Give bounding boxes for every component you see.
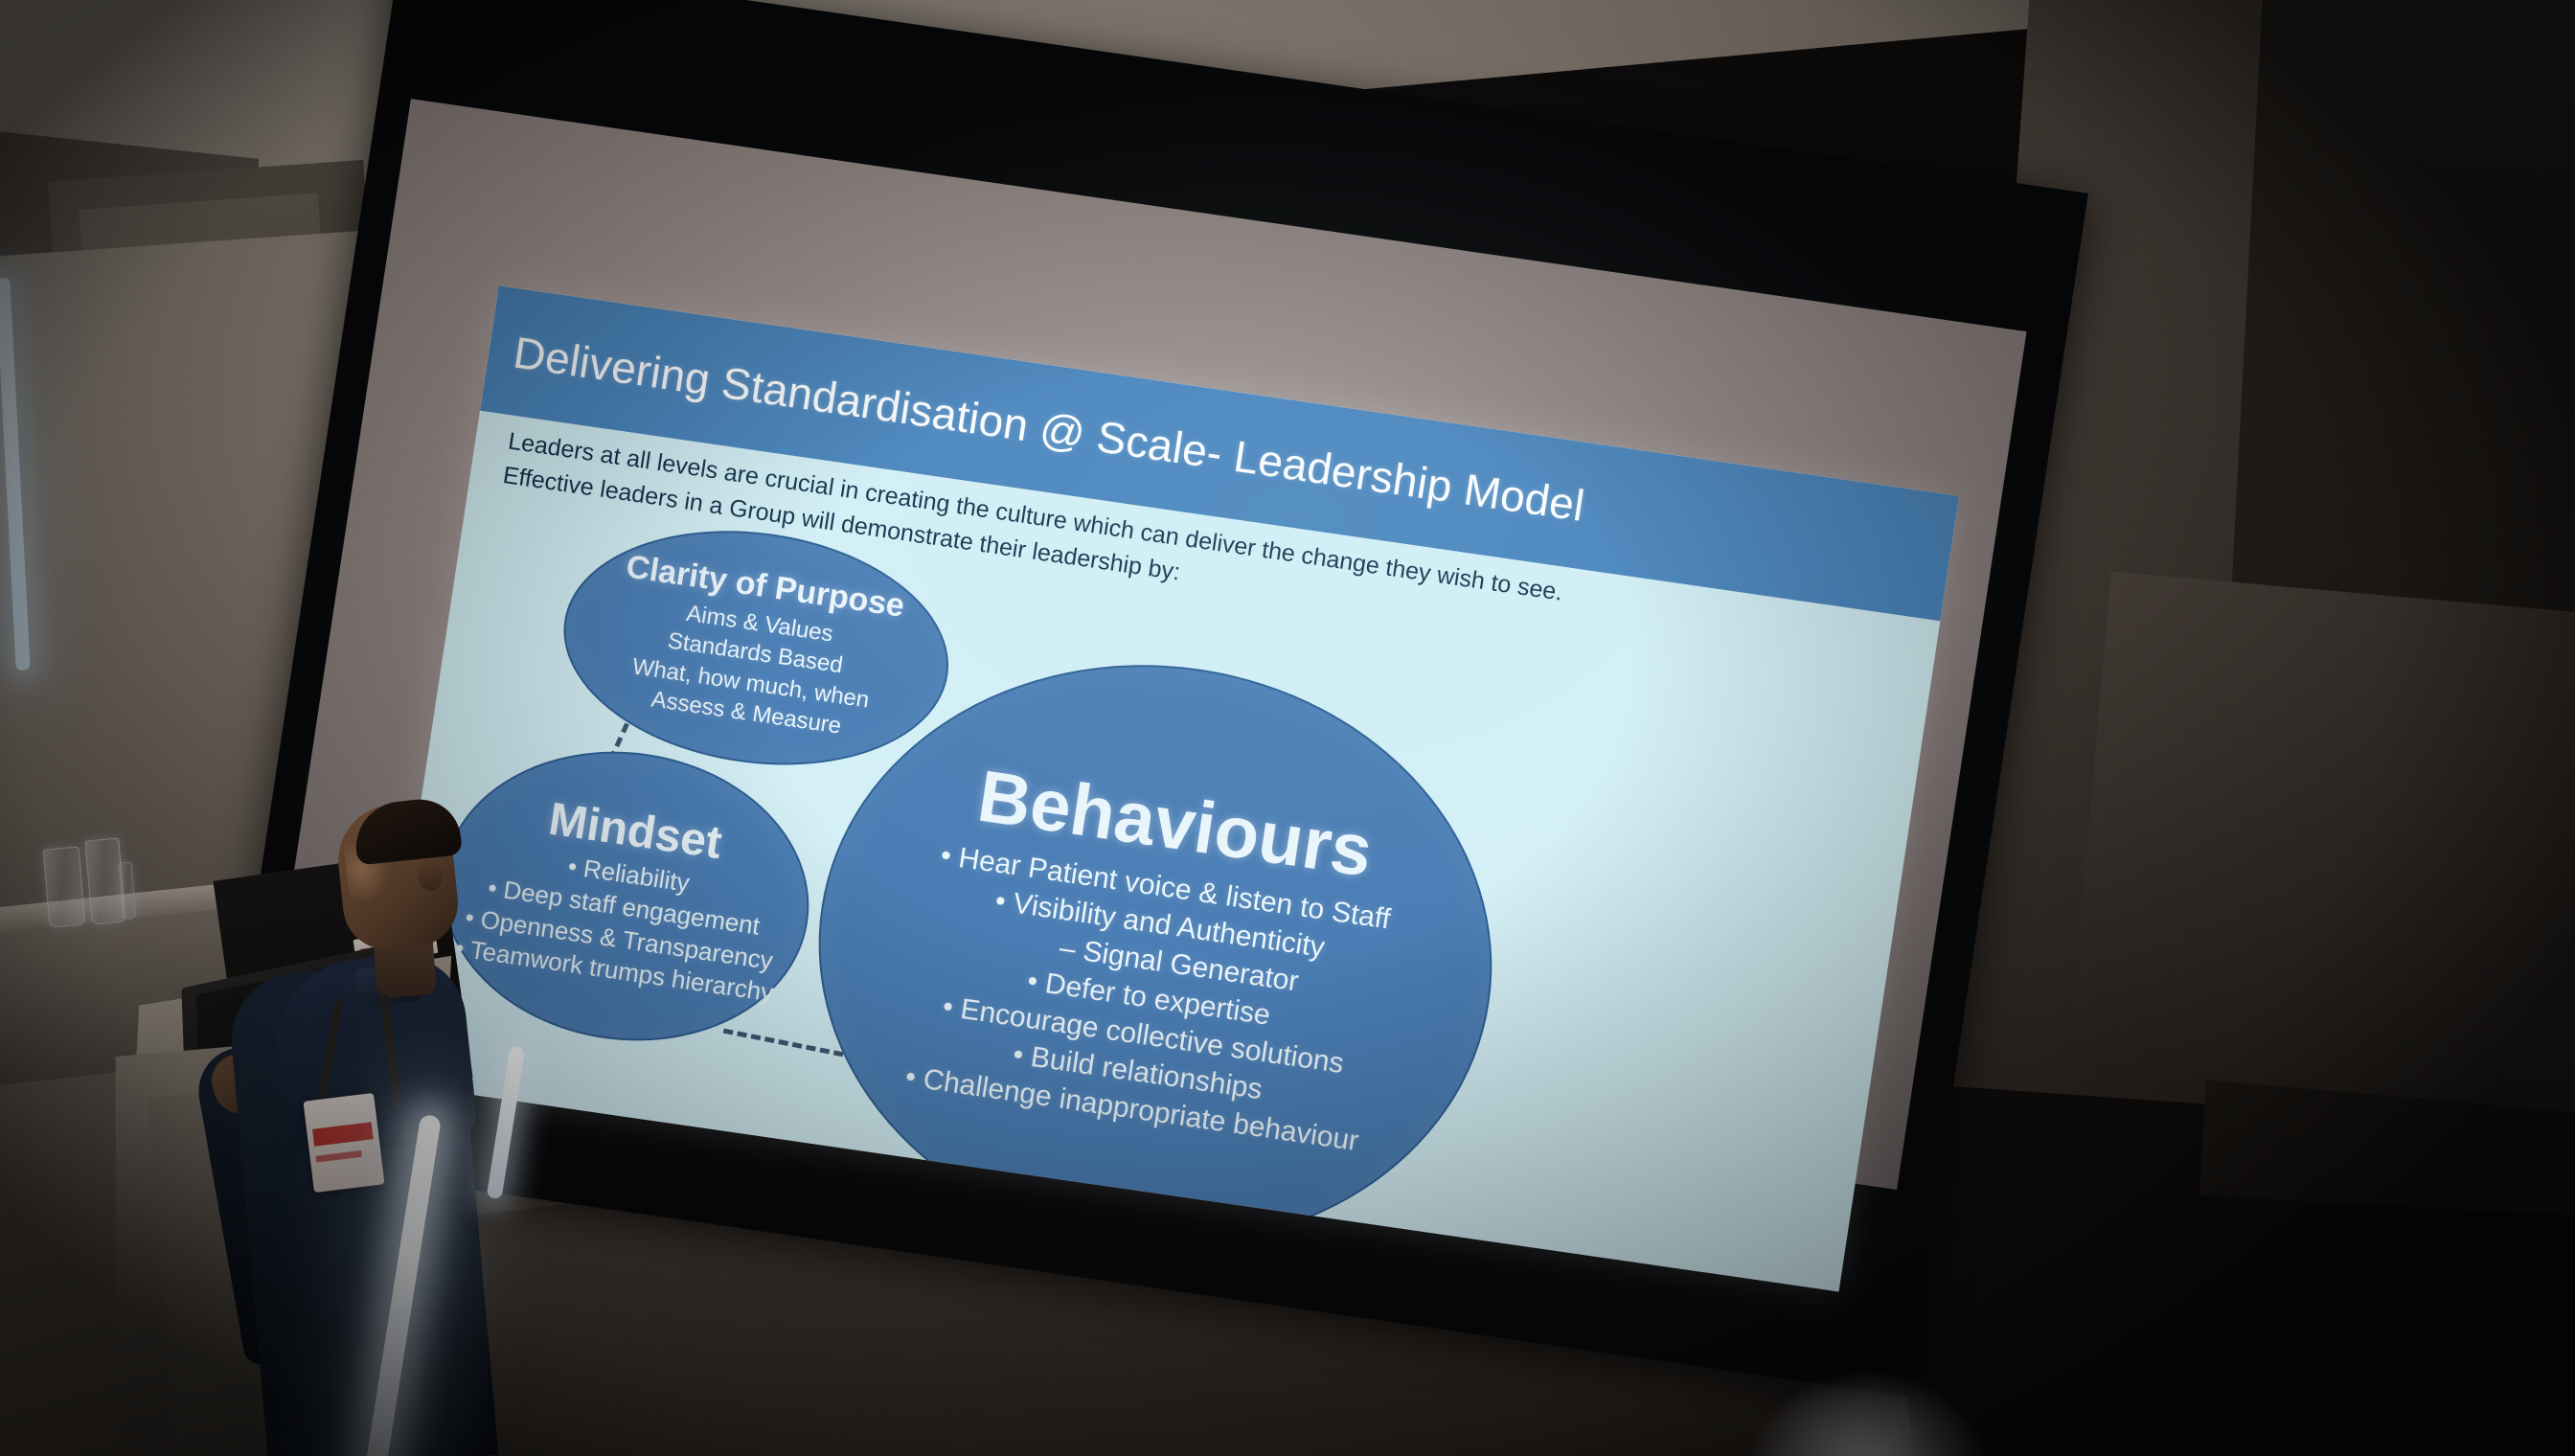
water-glass <box>42 847 85 928</box>
bubble-mindset-list: • Reliability • Deep staff engagement • … <box>453 836 790 1010</box>
presentation-room-photo: Delivering Standardisation @ Scale- Lead… <box>0 0 2575 1456</box>
badge-colour-bar <box>312 1122 374 1146</box>
bubble-mindset: Mindset • Reliability • Deep staff engag… <box>422 728 829 1064</box>
badge-colour-bar <box>315 1150 361 1163</box>
bottom-light-glow <box>1743 1370 1993 1456</box>
right-wall-panel <box>2067 572 2575 1115</box>
presenter-id-badge <box>303 1093 384 1193</box>
